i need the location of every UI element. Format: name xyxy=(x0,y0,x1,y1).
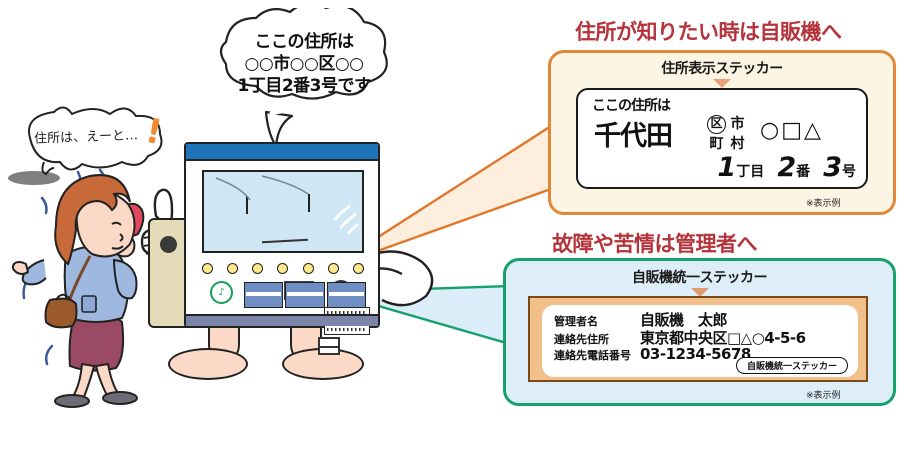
manager-sticker-badge: 自販機統一ステッカー xyxy=(736,357,848,374)
address-sticker-ward: 千代田 xyxy=(594,114,672,153)
illustration-canvas: 住所は、えーと… ! ここの住所は ○○市○○区○○ 1丁目2番3号です xyxy=(0,0,901,456)
unit-cell-cho: 町 xyxy=(706,134,727,154)
speech-line-2: ○○市○○区○○ xyxy=(244,54,363,74)
address-section-heading: 住所が知りたい時は自販機へ xyxy=(575,16,842,46)
speech-line-1: ここの住所は xyxy=(255,32,354,52)
manager-phone-label: 連絡先電話番号 xyxy=(554,347,640,363)
circled-ku-icon: 区 xyxy=(707,115,726,134)
unit-cell-ku: 区 xyxy=(706,114,727,134)
side-panel-dot xyxy=(160,236,177,253)
recycle-logo-icon: ♪ xyxy=(210,281,233,304)
ban-unit: 番 xyxy=(796,164,810,180)
gou-number: 3 xyxy=(823,152,842,183)
vending-machine-body: ♪ xyxy=(184,142,380,328)
speech-line-3: 1丁目2番3号です xyxy=(238,76,371,96)
thought-bubble-text: 住所は、えーと… xyxy=(34,124,139,147)
ban-number: 2 xyxy=(777,152,796,183)
vending-machine-window xyxy=(202,170,364,253)
address-unit-grid: 区 市 町 村 xyxy=(706,114,748,154)
address-number-row: 1丁目 2番 3号 xyxy=(717,152,856,183)
gou-unit: 号 xyxy=(842,164,856,180)
vending-machine-left-foot xyxy=(168,348,248,380)
manager-panel-title: 自販機統一ステッカー xyxy=(506,267,893,287)
product-item xyxy=(244,282,283,308)
address-panel-title: 住所表示ステッカー xyxy=(551,58,893,78)
coin-return-tray[interactable] xyxy=(318,337,340,355)
product-display-row xyxy=(244,282,366,308)
product-button[interactable] xyxy=(353,263,364,274)
manager-sticker-card: 管理者名 自販機 太郎 連絡先住所 東京都中央区□△○4-5-6 連絡先電話番号… xyxy=(528,296,868,382)
product-item xyxy=(285,282,324,308)
speech-bubble-text: ここの住所は ○○市○○区○○ 1丁目2番3号です xyxy=(208,8,400,120)
vending-machine-base xyxy=(186,314,378,326)
window-glare xyxy=(204,172,364,252)
vending-machine-top-band xyxy=(186,144,378,161)
vending-machine-side-panel xyxy=(148,218,188,328)
address-panel-note: ※表示例 xyxy=(806,196,841,209)
product-button[interactable] xyxy=(227,263,238,274)
chome-unit: 丁目 xyxy=(736,164,764,180)
product-button[interactable] xyxy=(202,263,213,274)
unit-cell-son: 村 xyxy=(727,134,748,154)
product-button[interactable] xyxy=(277,263,288,274)
product-button[interactable] xyxy=(252,263,263,274)
product-button[interactable] xyxy=(303,263,314,274)
address-shape-placeholders: ○□△ xyxy=(760,118,823,143)
unit-cell-shi: 市 xyxy=(727,114,748,134)
manager-row-phone: 連絡先電話番号 03-1234-5678 xyxy=(554,345,751,363)
address-sticker-intro: ここの住所は xyxy=(592,95,670,115)
vending-machine-buttons[interactable] xyxy=(202,263,364,274)
product-button[interactable] xyxy=(328,263,339,274)
manager-section-heading: 故障や苦情は管理者へ xyxy=(552,228,757,258)
manager-sticker-inner: 管理者名 自販機 太郎 連絡先住所 東京都中央区□△○4-5-6 連絡先電話番号… xyxy=(542,305,858,377)
down-arrow-icon xyxy=(713,79,731,88)
speech-bubble: ここの住所は ○○市○○区○○ 1丁目2番3号です xyxy=(208,8,400,120)
address-sticker-card: ここの住所は 千代田 区 市 町 村 ○□△ 1丁目 2番 3号 xyxy=(576,88,868,189)
product-item xyxy=(327,282,366,308)
manager-panel-note: ※表示例 xyxy=(806,388,841,401)
manager-phone-value: 03-1234-5678 xyxy=(640,345,751,363)
chome-number: 1 xyxy=(717,152,736,183)
